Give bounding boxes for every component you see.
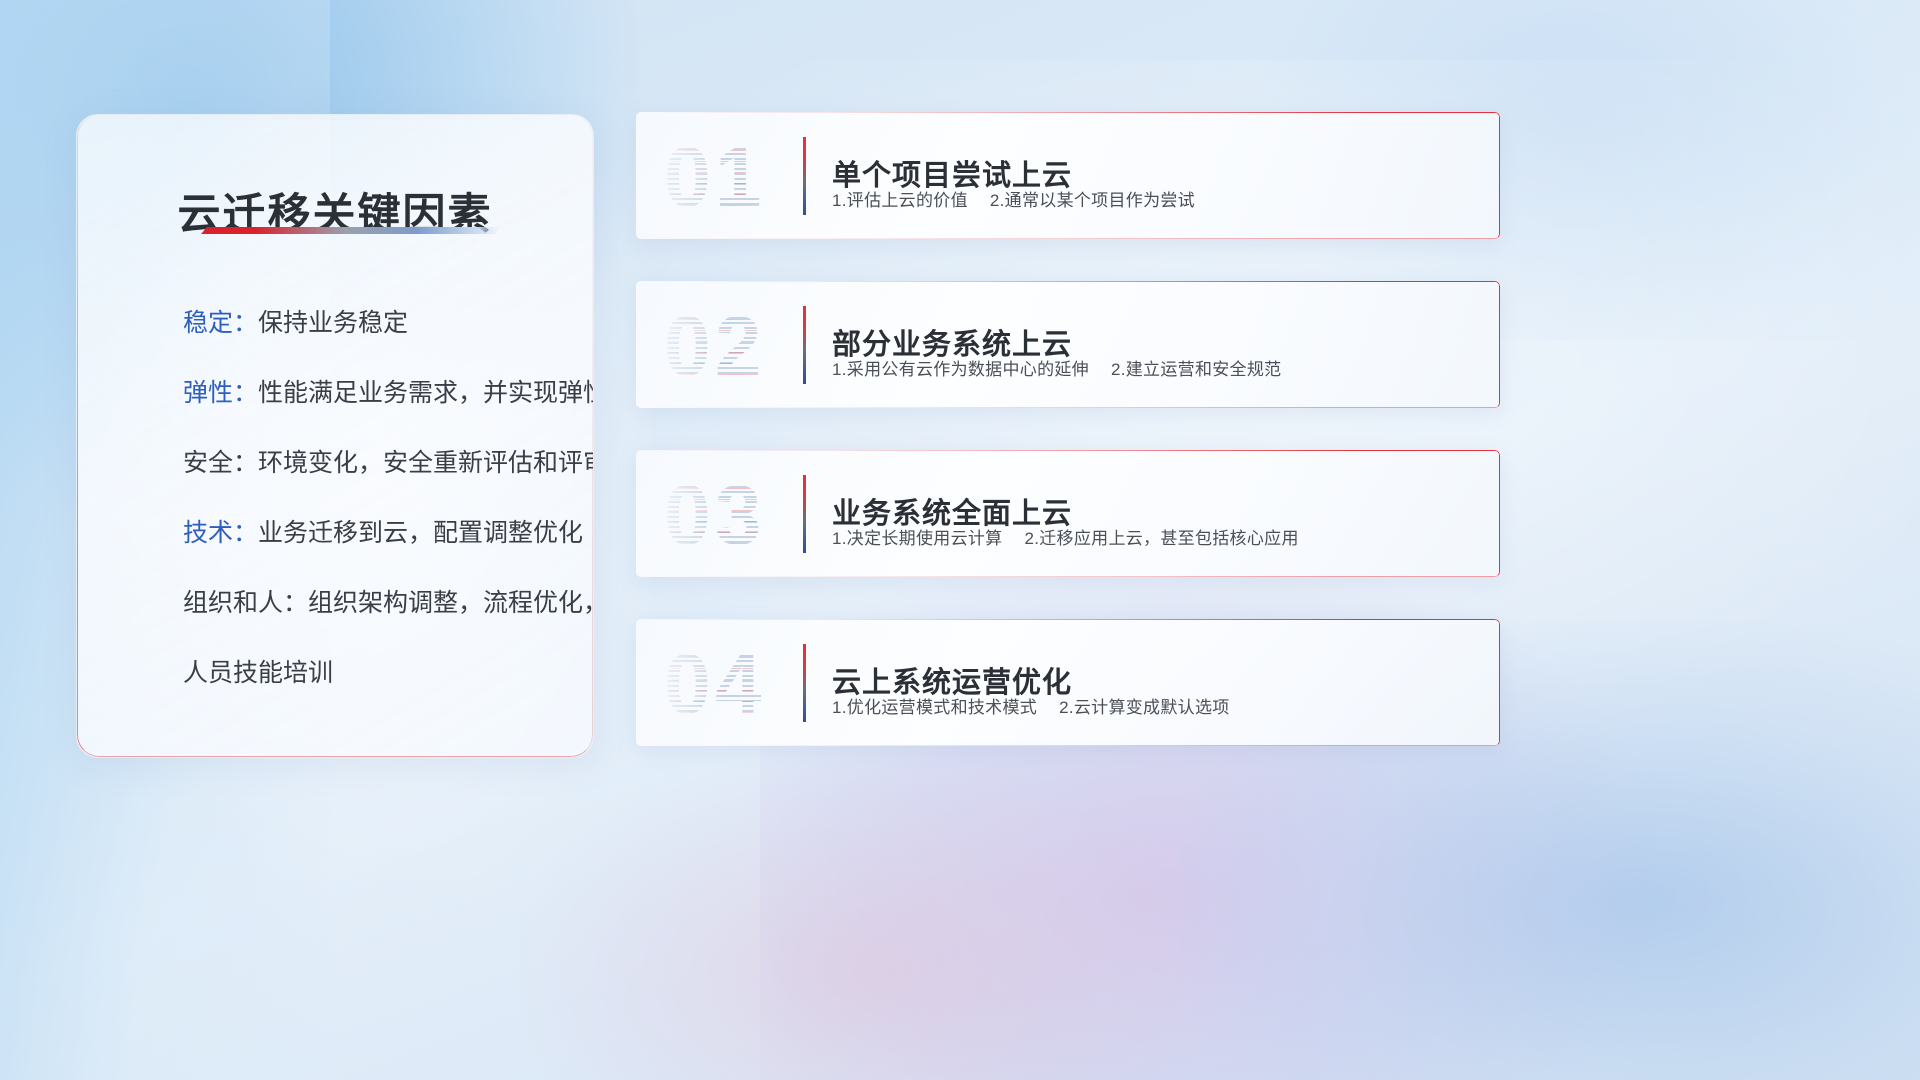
stage-card[interactable]: 0101单个项目尝试上云1.评估上云的价值2.通常以某个项目作为尝试 (636, 112, 1500, 239)
factor-item: 弹性：性能满足业务需求，并实现弹性 (183, 381, 565, 406)
factor-item: 技术：业务迁移到云，配置调整优化 (183, 521, 565, 546)
stage-card[interactable]: 0202部分业务系统上云1.采用公有云作为数据中心的延伸2.建立运营和安全规范 (636, 281, 1500, 408)
stage-number-accent-overlay: 01 (664, 128, 834, 226)
card-description-point: 2.云计算变成默认选项 (1059, 698, 1229, 717)
card-description-point: 1.评估上云的价值 (832, 191, 968, 210)
factor-item: 安全：环境变化，安全重新评估和评审 (183, 451, 565, 476)
card-description: 1.优化运营模式和技术模式2.云计算变成默认选项 (832, 693, 1230, 718)
card-description-point: 1.优化运营模式和技术模式 (832, 698, 1037, 717)
card-description: 1.评估上云的价值2.通常以某个项目作为尝试 (832, 186, 1195, 211)
factor-key: 弹性： (183, 379, 258, 407)
factor-value: 保持业务稳定 (258, 309, 408, 337)
card-description-point: 2.迁移应用上云，甚至包括核心应用 (1024, 529, 1298, 548)
stage-number-accent-overlay: 04 (664, 635, 834, 733)
card-description: 1.决定长期使用云计算2.迁移应用上云，甚至包括核心应用 (832, 524, 1299, 549)
card-description-point: 1.决定长期使用云计算 (832, 529, 1002, 548)
stage-card[interactable]: 0303业务系统全面上云1.决定长期使用云计算2.迁移应用上云，甚至包括核心应用 (636, 450, 1500, 577)
factor-key: 稳定： (183, 309, 258, 337)
factor-value: 环境变化，安全重新评估和评审 (258, 449, 594, 477)
factor-value: 人员技能培训 (183, 659, 333, 687)
factor-item: 稳定：保持业务稳定 (183, 311, 565, 336)
factor-item: 人员技能培训 (183, 661, 565, 686)
factor-value: 业务迁移到云，配置调整优化 (258, 519, 583, 547)
factor-key: 组织和人： (183, 589, 308, 617)
factor-key: 技术： (183, 519, 258, 547)
card-vertical-accent-bar (803, 644, 806, 722)
factor-item: 组织和人：组织架构调整，流程优化， (183, 591, 565, 616)
migration-stage-cards: 0101单个项目尝试上云1.评估上云的价值2.通常以某个项目作为尝试0202部分… (636, 112, 1500, 746)
card-description-point: 2.建立运营和安全规范 (1111, 360, 1281, 379)
factor-value: 性能满足业务需求，并实现弹性 (258, 379, 594, 407)
key-factors-panel: 云迁移关键因素 稳定：保持业务稳定弹性：性能满足业务需求，并实现弹性安全：环境变… (76, 114, 594, 758)
stage-number-accent-overlay: 02 (664, 297, 834, 395)
card-description-point: 1.采用公有云作为数据中心的延伸 (832, 360, 1089, 379)
factor-key: 安全： (183, 449, 258, 477)
background-pink-glow (520, 760, 1220, 1080)
card-description-point: 2.通常以某个项目作为尝试 (990, 191, 1195, 210)
card-description: 1.采用公有云作为数据中心的延伸2.建立运营和安全规范 (832, 355, 1281, 380)
card-vertical-accent-bar (803, 475, 806, 553)
factor-list: 稳定：保持业务稳定弹性：性能满足业务需求，并实现弹性安全：环境变化，安全重新评估… (183, 311, 565, 686)
card-vertical-accent-bar (803, 137, 806, 215)
factor-value: 组织架构调整，流程优化， (308, 589, 594, 617)
stage-number-accent-overlay: 03 (664, 466, 834, 564)
card-vertical-accent-bar (803, 306, 806, 384)
stage-card[interactable]: 0404云上系统运营优化1.优化运营模式和技术模式2.云计算变成默认选项 (636, 619, 1500, 746)
title-underline-gradient (201, 227, 501, 234)
